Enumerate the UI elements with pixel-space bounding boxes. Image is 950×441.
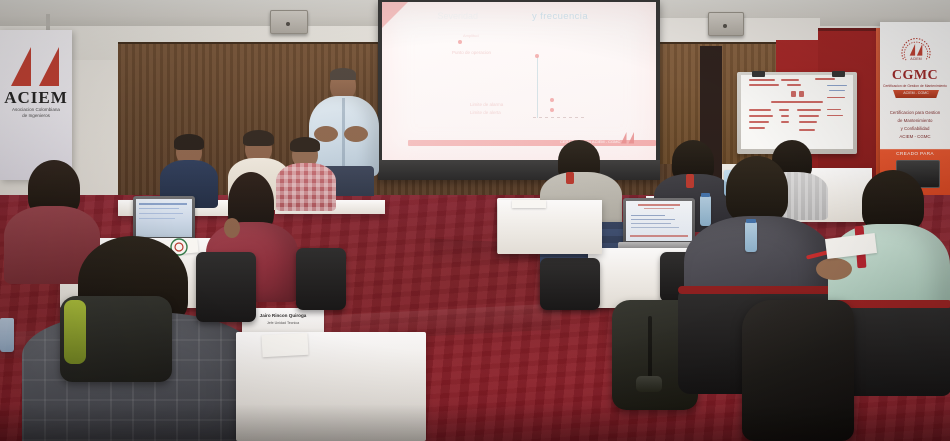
chair-center xyxy=(540,258,600,310)
attendee-9-hair xyxy=(726,156,788,222)
laptop-center-screen xyxy=(626,201,692,241)
whiteboard-clip xyxy=(752,71,765,77)
chair-left xyxy=(196,252,256,322)
whiteboard-surface xyxy=(741,75,853,149)
attendee-1-hair xyxy=(243,130,274,146)
slide-data-point xyxy=(535,54,539,58)
cgmc-desc-line-3: y Confiabilidad xyxy=(882,126,948,131)
name-placard-role: Jefe Unidad Tecnica xyxy=(242,321,324,325)
water-bottle xyxy=(700,196,711,226)
attendee-10-hand xyxy=(816,258,852,280)
wall-speaker-icon xyxy=(270,10,308,34)
aciem-banner-subtitle-1: Asociacion Colombiana xyxy=(2,107,70,112)
projection-screen-surface xyxy=(382,2,656,160)
presenter-hair xyxy=(330,68,356,80)
attendee-2-neck xyxy=(224,218,240,238)
slide-label-alarma: Limite de alarma xyxy=(470,102,503,107)
slide-data-point xyxy=(550,98,554,102)
water-bottle xyxy=(745,222,757,252)
cgmc-footer-text: CREADO PARA xyxy=(882,152,948,157)
slide-label-amplitud: Amplitud xyxy=(463,33,479,38)
water-bottle-cap xyxy=(746,219,756,223)
laptop-left-screen xyxy=(136,199,192,237)
slide-corner-accent xyxy=(382,2,408,28)
cgmc-desc-line-1: Certificacion para Gestion xyxy=(882,110,948,115)
chair-left-2 xyxy=(296,248,346,310)
water-bottle-cap xyxy=(701,193,710,197)
slide-title: y frecuencia xyxy=(470,11,650,22)
papers-front xyxy=(261,333,308,357)
slide-data-point xyxy=(458,40,462,44)
wall-speaker-icon xyxy=(708,12,744,36)
attendee-5-hair xyxy=(174,134,204,150)
attendee-6-torso xyxy=(276,163,336,211)
slide-chart-y-axis xyxy=(537,56,538,118)
conference-room-photo: Severidad y frecuencia Amplitud Punto de… xyxy=(0,0,950,441)
backpack-center-pocket xyxy=(636,376,662,392)
attendee-6-hair xyxy=(290,137,320,152)
svg-text:ACIEM: ACIEM xyxy=(910,57,921,61)
water-bottle xyxy=(0,318,14,352)
attendee-7-lanyard xyxy=(566,172,574,184)
papers-right-back xyxy=(512,200,546,208)
cgmc-desc-line-2: de Mantenimiento xyxy=(882,118,948,123)
backpack-trim xyxy=(64,300,86,364)
slide-label-operacion: Punto de operacion xyxy=(452,50,491,55)
aciem-logo xyxy=(620,130,640,144)
presenter-right-hand xyxy=(344,126,368,142)
cgmc-ribbon-text: ACIEM - CGMC xyxy=(893,91,939,95)
chair-right-front-trim xyxy=(678,286,838,294)
cgmc-tagline: Certificacion de Gestion de Mantenimient… xyxy=(882,84,948,88)
aciem-banner-subtitle-2: de Ingenieros xyxy=(2,113,70,118)
attendee-8-lanyard xyxy=(686,174,694,188)
aciem-triangle-logo xyxy=(10,45,62,87)
projection-screen-lower-frame xyxy=(378,160,660,180)
slide-chart-x-axis xyxy=(533,117,587,118)
slide-title-faded: Severidad xyxy=(408,11,478,21)
cgmc-laurel-seal: ACIEM xyxy=(898,34,934,70)
slide-data-point xyxy=(550,108,554,112)
whiteboard-clip xyxy=(832,71,845,77)
aciem-banner-name: ACIEM xyxy=(2,88,70,108)
slide-label-alerta: Limite de alerta xyxy=(470,110,501,115)
cgmc-acronym: CGMC xyxy=(882,68,948,84)
foreground-shadow xyxy=(0,404,950,441)
table-cloth-right xyxy=(498,200,602,254)
attendee-10-hair xyxy=(862,170,924,232)
cgmc-desc-line-4: ACIEM - CGMC xyxy=(882,134,948,139)
